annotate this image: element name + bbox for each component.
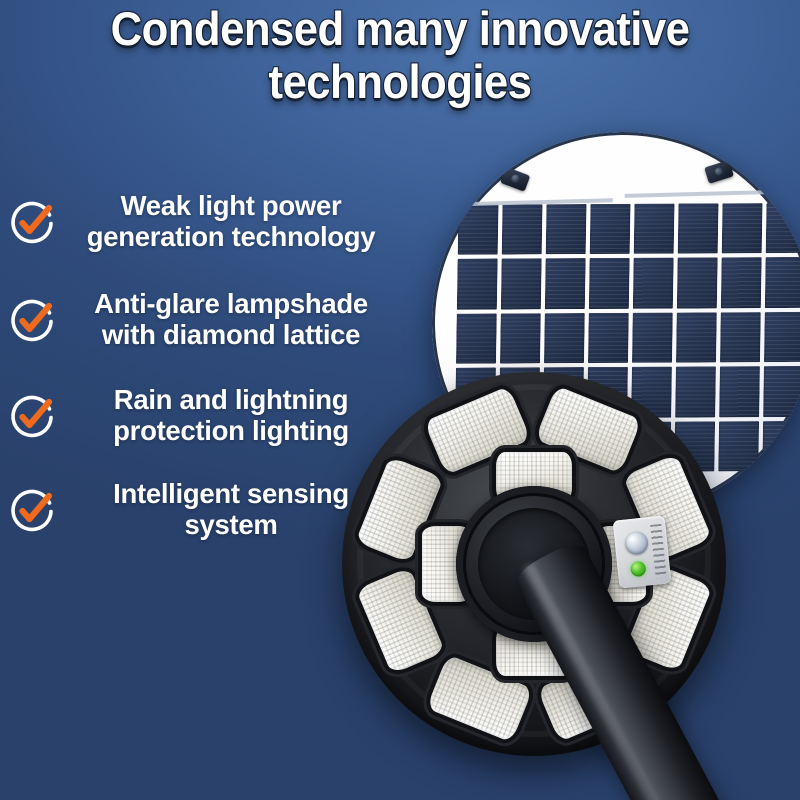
feature-item-rain-lightning-protection[interactable]: Rain and lightning protection lighting <box>0 384 420 470</box>
solar-cell <box>676 312 717 363</box>
solar-busbar <box>625 190 785 198</box>
solar-cell <box>502 204 543 255</box>
solar-cell <box>545 258 586 309</box>
solar-cell <box>457 259 498 310</box>
feature-label-line-2: system <box>64 509 420 540</box>
solar-cell <box>763 366 800 417</box>
solar-cell <box>456 313 497 364</box>
solar-cell <box>590 204 631 255</box>
feature-item-intelligent-sensing[interactable]: Intelligent sensing system <box>0 478 420 564</box>
check-circle-icon <box>8 392 56 440</box>
status-led-indicator <box>630 561 646 577</box>
solar-cell <box>766 203 800 254</box>
feature-label-line-2: protection lighting <box>64 415 420 446</box>
panel-mount-clip <box>500 167 530 192</box>
solar-cell <box>458 205 499 256</box>
solar-cell <box>632 312 673 363</box>
solar-cell <box>633 258 674 309</box>
pir-sensor-module[interactable] <box>613 515 672 588</box>
feature-label-line-1: Weak light power <box>64 190 420 221</box>
solar-cell <box>765 257 800 308</box>
check-circle-icon <box>8 486 56 534</box>
feature-label-line-1: Anti-glare lampshade <box>64 288 420 319</box>
feature-item-weak-light-power[interactable]: Weak light power generation technology <box>0 190 420 276</box>
solar-cell <box>721 258 762 309</box>
solar-cell <box>501 259 542 310</box>
solar-cell <box>500 313 541 364</box>
solar-cell <box>589 258 630 309</box>
check-circle-icon <box>8 296 56 344</box>
solar-cell <box>764 312 800 363</box>
feature-label-line-2: generation technology <box>64 221 420 252</box>
feature-list: Weak light power generation technology A… <box>0 190 420 568</box>
title-line-1: Condensed many innovative <box>28 2 772 55</box>
feature-item-anti-glare-lampshade[interactable]: Anti-glare lampshade with diamond lattic… <box>0 288 420 374</box>
pir-dome-icon <box>624 530 649 555</box>
solar-cell <box>720 312 761 363</box>
feature-label-line-1: Rain and lightning <box>64 384 420 415</box>
solar-cell <box>678 203 719 254</box>
panel-mount-clip <box>704 160 734 184</box>
solar-cell <box>677 258 718 309</box>
check-circle-icon <box>8 198 56 246</box>
solar-cell <box>544 313 585 364</box>
solar-cell <box>722 203 763 254</box>
solar-cell <box>634 204 675 255</box>
solar-cell <box>588 313 629 364</box>
sensor-label-marks <box>650 524 667 579</box>
solar-cell <box>762 421 800 472</box>
feature-label-line-1: Intelligent sensing <box>64 478 420 509</box>
page-title: Condensed many innovative technologies <box>0 2 800 108</box>
title-line-2: technologies <box>28 55 772 108</box>
feature-label-line-2: with diamond lattice <box>64 319 420 350</box>
product-feature-poster: Condensed many innovative technologies <box>0 0 800 800</box>
solar-cell <box>546 204 587 255</box>
